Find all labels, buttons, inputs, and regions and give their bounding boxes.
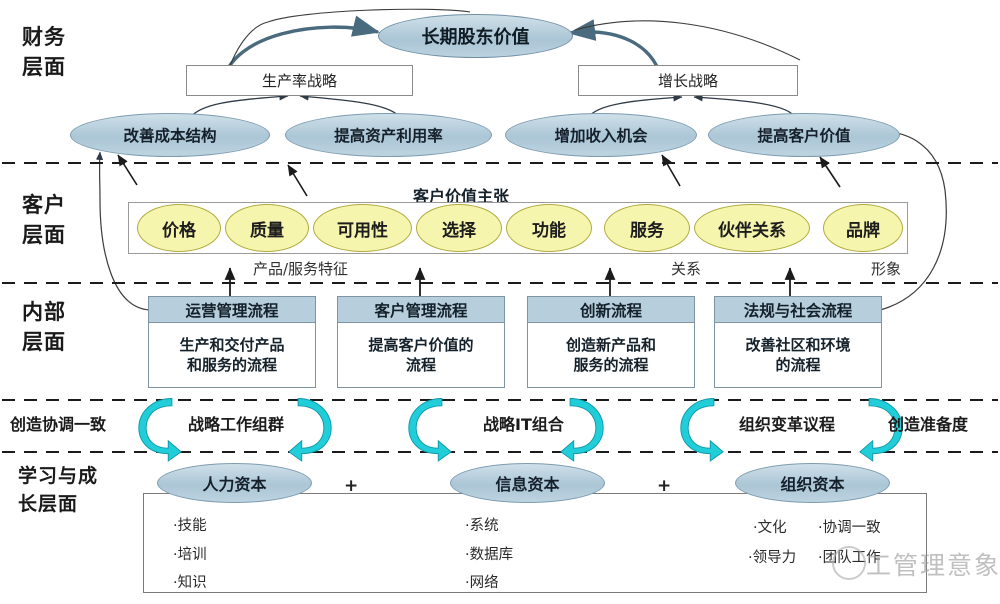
strategy-map-diagram: 财务 层面 客户 层面 内部 层面 学习与成 长层面 长期股东价值 生产率战略 …: [0, 0, 1000, 604]
perspective-financial-line1: 财务: [22, 22, 66, 52]
learning-information-item-2-text: ·网络: [465, 575, 499, 591]
learning-organization-item-0-text: ·文化: [753, 520, 787, 536]
alignment-band-item-strategic-job-families[interactable]: 战略工作组群: [188, 411, 284, 435]
internal-process-operations-management-desc: 生产和交付产品 和服务的流程: [149, 323, 315, 388]
learning-capital-information-label: 信息资本: [495, 471, 559, 495]
perspective-label-learning: 学习与成 长层面: [18, 463, 98, 518]
perspective-financial-line2: 层面: [22, 52, 66, 82]
customer-attribute-availability[interactable]: 可用性: [313, 204, 412, 252]
customer-attribute-service[interactable]: 服务: [604, 204, 690, 252]
perspective-learning-line1: 学习与成: [18, 463, 98, 491]
alignment-band-right-label-text: 创造准备度: [888, 415, 968, 434]
learning-capital-organization-label: 组织资本: [780, 471, 844, 495]
perspective-label-financial: 财务 层面: [22, 22, 66, 83]
strategy-growth-label: 增长战略: [658, 70, 718, 91]
internal-process-customer-management-title-text: 客户管理流程: [374, 299, 467, 321]
learning-organization-item-0: ·文化: [753, 516, 787, 537]
learning-plus-sign-2: +: [657, 476, 671, 496]
alignment-band-right-label: 创造准备度: [888, 411, 968, 435]
learning-information-item-0: ·系统: [465, 514, 499, 535]
learning-information-item-1: ·数据库: [465, 543, 513, 564]
internal-process-customer-management-desc-text: 提高客户价值的 流程: [368, 336, 473, 374]
learning-organization-item-1-text: ·协调一致: [818, 520, 881, 536]
internal-process-customer-management-title: 客户管理流程: [338, 297, 504, 323]
learning-capital-human-label: 人力资本: [202, 471, 266, 495]
learning-organization-item-1: ·协调一致: [818, 516, 881, 537]
learning-assets-box: [143, 493, 927, 593]
learning-human-item-1-text: ·培训: [173, 547, 207, 563]
internal-process-operations-management-title: 运营管理流程: [149, 297, 315, 323]
learning-human-item-2-text: ·知识: [173, 575, 207, 591]
customer-attribute-functionality[interactable]: 功能: [506, 204, 592, 252]
alignment-band-item-strategic-job-families-text: 战略工作组群: [188, 415, 284, 434]
customer-attribute-price-label: 价格: [162, 216, 196, 241]
alignment-band-left-label: 创造协调一致: [10, 411, 106, 435]
learning-capital-information[interactable]: 信息资本: [450, 463, 605, 503]
perspective-learning-line2: 长层面: [18, 491, 98, 519]
internal-process-innovation[interactable]: 创新流程 创造新产品和 服务的流程: [527, 296, 695, 388]
alignment-band-item-organization-change-agenda-text: 组织变革议程: [739, 415, 835, 434]
internal-process-customer-management[interactable]: 客户管理流程 提高客户价值的 流程: [337, 296, 505, 388]
learning-human-item-2: ·知识: [173, 571, 207, 592]
internal-process-innovation-title: 创新流程: [528, 297, 694, 323]
customer-attribute-quality-label: 质量: [250, 216, 284, 241]
strategy-box-productivity[interactable]: 生产率战略: [186, 65, 413, 96]
financial-objective-cost-structure[interactable]: 改善成本结构: [70, 113, 270, 157]
customer-attribute-partnership[interactable]: 伙伴关系: [694, 204, 810, 252]
learning-human-item-0-text: ·技能: [173, 518, 207, 534]
internal-process-customer-management-desc: 提高客户价值的 流程: [338, 323, 504, 388]
perspective-customer-line1: 客户: [22, 190, 66, 220]
internal-process-regulatory-social-title-text: 法规与社会流程: [744, 299, 853, 321]
customer-attribute-quality[interactable]: 质量: [225, 204, 309, 252]
watermark-ring-icon: [832, 546, 866, 580]
perspective-customer-line2: 层面: [22, 220, 66, 250]
watermark-text-value: 工管理意象: [866, 551, 1000, 580]
internal-process-operations-management-desc-text: 生产和交付产品 和服务的流程: [179, 336, 284, 374]
customer-attribute-service-label: 服务: [630, 216, 664, 241]
customer-attribute-brand-label: 品牌: [846, 216, 880, 241]
alignment-band-item-strategic-it-portfolio[interactable]: 战略IT组合: [483, 411, 564, 435]
alignment-band-left-label-text: 创造协调一致: [10, 415, 106, 434]
customer-group-caption-product-service: 产品/服务特征: [253, 258, 348, 279]
financial-objective-revenue-opportunity[interactable]: 增加收入机会: [505, 113, 697, 157]
learning-organization-item-2-text: ·领导力: [748, 550, 796, 566]
customer-attribute-selection[interactable]: 选择: [416, 204, 502, 252]
customer-group-caption-relationship: 关系: [671, 258, 701, 279]
learning-information-item-2: ·网络: [465, 571, 499, 592]
financial-objective-customer-value[interactable]: 提高客户价值: [708, 113, 900, 157]
learning-capital-organization[interactable]: 组织资本: [735, 463, 890, 503]
learning-plus-sign-1: +: [344, 476, 358, 496]
learning-human-item-0: ·技能: [173, 514, 207, 535]
customer-attribute-brand[interactable]: 品牌: [823, 204, 903, 252]
financial-objective-customer-value-label: 提高客户价值: [757, 124, 850, 146]
customer-attribute-functionality-label: 功能: [532, 216, 566, 241]
perspective-internal-line1: 内部: [22, 297, 66, 327]
customer-attribute-price[interactable]: 价格: [137, 204, 221, 252]
learning-information-item-0-text: ·系统: [465, 518, 499, 534]
perspective-label-customer: 客户 层面: [22, 190, 66, 251]
strategy-box-growth[interactable]: 增长战略: [578, 65, 798, 96]
financial-objective-revenue-opportunity-label: 增加收入机会: [554, 124, 647, 146]
internal-process-innovation-desc: 创造新产品和 服务的流程: [528, 323, 694, 388]
financial-objective-cost-structure-label: 改善成本结构: [123, 124, 216, 146]
alignment-band-item-organization-change-agenda[interactable]: 组织变革议程: [739, 411, 835, 435]
learning-information-item-1-text: ·数据库: [465, 547, 513, 563]
learning-plus-sign-2-text: +: [657, 476, 671, 496]
customer-group-caption-image-text: 形象: [871, 260, 901, 278]
internal-process-innovation-title-text: 创新流程: [580, 299, 642, 321]
customer-group-caption-image: 形象: [871, 258, 901, 279]
internal-process-innovation-desc-text: 创造新产品和 服务的流程: [566, 336, 656, 374]
internal-process-operations-management-title-text: 运营管理流程: [185, 299, 278, 321]
customer-attribute-selection-label: 选择: [442, 216, 476, 241]
financial-objective-asset-utilization[interactable]: 提高资产利用率: [285, 113, 492, 157]
watermark-text: 工管理意象: [866, 546, 1000, 582]
learning-plus-sign-1-text: +: [344, 476, 358, 496]
internal-process-regulatory-social-desc: 改善社区和环境 的流程: [715, 323, 881, 388]
customer-group-caption-relationship-text: 关系: [671, 260, 701, 278]
internal-process-regulatory-social-title: 法规与社会流程: [715, 297, 881, 323]
internal-process-regulatory-social[interactable]: 法规与社会流程 改善社区和环境 的流程: [714, 296, 882, 388]
financial-apex-label: 长期股东价值: [422, 23, 530, 49]
customer-group-caption-product-service-text: 产品/服务特征: [253, 260, 348, 278]
perspective-internal-line2: 层面: [22, 327, 66, 357]
internal-process-operations-management[interactable]: 运营管理流程 生产和交付产品 和服务的流程: [148, 296, 316, 388]
financial-objective-asset-utilization-label: 提高资产利用率: [334, 124, 443, 146]
learning-human-item-1: ·培训: [173, 543, 207, 564]
learning-capital-human[interactable]: 人力资本: [157, 463, 312, 503]
learning-organization-item-2: ·领导力: [748, 546, 796, 567]
customer-attribute-availability-label: 可用性: [337, 216, 388, 241]
financial-apex-ellipse[interactable]: 长期股东价值: [378, 14, 573, 58]
customer-attribute-partnership-label: 伙伴关系: [718, 216, 786, 241]
strategy-productivity-label: 生产率战略: [262, 70, 337, 91]
alignment-band-item-strategic-it-portfolio-text: 战略IT组合: [483, 415, 564, 434]
internal-process-regulatory-social-desc-text: 改善社区和环境 的流程: [745, 336, 850, 374]
perspective-label-internal: 内部 层面: [22, 297, 66, 358]
